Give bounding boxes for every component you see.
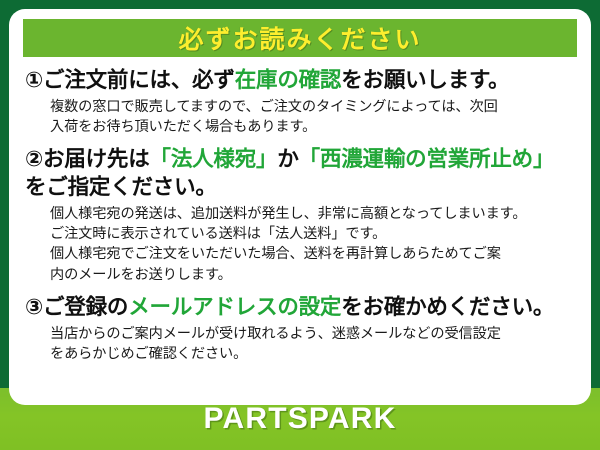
brand-wordmark: PARTSPARK <box>203 402 396 436</box>
notice-item-2-headline-after: をご指定ください。 <box>25 175 217 199</box>
notice-item-2-number: ② <box>25 147 43 171</box>
notice-item-1-headline-before: ご注文前には、必ず <box>43 68 235 92</box>
notice-item-3: ③ご登録のメールアドレスの設定をお確かめください。 当店からのご案内メールが受け… <box>25 294 575 364</box>
notice-title-bar: 必ずお読みください <box>23 19 577 57</box>
notice-item-2-body-line-1: 個人様宅宛の発送は、追加送料が発生し、非常に高額となってしまいます。 <box>50 204 575 224</box>
notice-item-2-headline-highlight: 「法人様宛」 <box>150 147 278 171</box>
notice-item-3-headline-before: ご登録の <box>43 295 128 319</box>
notice-item-3-headline: ③ご登録のメールアドレスの設定をお確かめください。 <box>25 294 575 322</box>
notice-banner: PARTSPARK 必ずお読みください ①ご注文前には、必ず在庫の確認をお願いし… <box>0 0 600 450</box>
notice-item-1-headline-after: をお願いします。 <box>341 68 509 92</box>
page-title: 必ずお読みください <box>178 20 421 56</box>
notice-item-3-headline-highlight: メールアドレスの設定 <box>128 295 341 319</box>
notice-item-1-body-line-2: 入荷をお待ち頂いただく場合もあります。 <box>50 117 575 137</box>
notice-item-3-body-line-2: をあらかじめご確認ください。 <box>50 344 575 364</box>
notice-item-2-body-line-4: 内のメールをお送りします。 <box>50 265 575 285</box>
notice-item-2-headline-highlight-2: 「西濃運輸の営業所止め」 <box>299 147 555 171</box>
notice-item-2-headline: ②お届け先は「法人様宛」か「西濃運輸の営業所止め」をご指定ください。 <box>25 146 575 202</box>
notice-item-3-headline-after: をお確かめください。 <box>341 295 554 319</box>
notice-item-2-body-line-2: ご注文時に表示されている送料は「法人送料」です。 <box>50 224 575 244</box>
notice-item-2: ②お届け先は「法人様宛」か「西濃運輸の営業所止め」をご指定ください。 個人様宅宛… <box>25 146 575 285</box>
notice-item-1-body: 複数の窓口で販売してますので、ご注文のタイミングによっては、次回 入荷をお待ち頂… <box>25 97 575 137</box>
notice-item-3-number: ③ <box>25 295 43 319</box>
notice-item-3-body-line-1: 当店からのご案内メールが受け取れるよう、迷惑メールなどの受信設定 <box>50 324 575 344</box>
notice-item-1-number: ① <box>25 68 43 92</box>
notice-item-2-body-line-3: 個人様宅宛でご注文をいただいた場合、送料を再計算しあらためてご案 <box>50 244 575 264</box>
notice-item-1-headline: ①ご注文前には、必ず在庫の確認をお願いします。 <box>25 67 575 95</box>
notice-item-3-body: 当店からのご案内メールが受け取れるよう、迷惑メールなどの受信設定 をあらかじめご… <box>25 324 575 364</box>
notice-item-1-body-line-1: 複数の窓口で販売してますので、ご注文のタイミングによっては、次回 <box>50 97 575 117</box>
notice-item-1: ①ご注文前には、必ず在庫の確認をお願いします。 複数の窓口で販売してますので、ご… <box>25 67 575 137</box>
notice-item-list: ①ご注文前には、必ず在庫の確認をお願いします。 複数の窓口で販売してますので、ご… <box>21 67 579 364</box>
notice-item-2-body: 個人様宅宛の発送は、追加送料が発生し、非常に高額となってしまいます。 ご注文時に… <box>25 204 575 285</box>
notice-card: 必ずお読みください ①ご注文前には、必ず在庫の確認をお願いします。 複数の窓口で… <box>9 9 591 405</box>
notice-item-2-headline-middle: か <box>277 147 298 171</box>
notice-item-2-headline-before: お届け先は <box>43 147 150 171</box>
notice-item-1-headline-highlight: 在庫の確認 <box>235 68 342 92</box>
